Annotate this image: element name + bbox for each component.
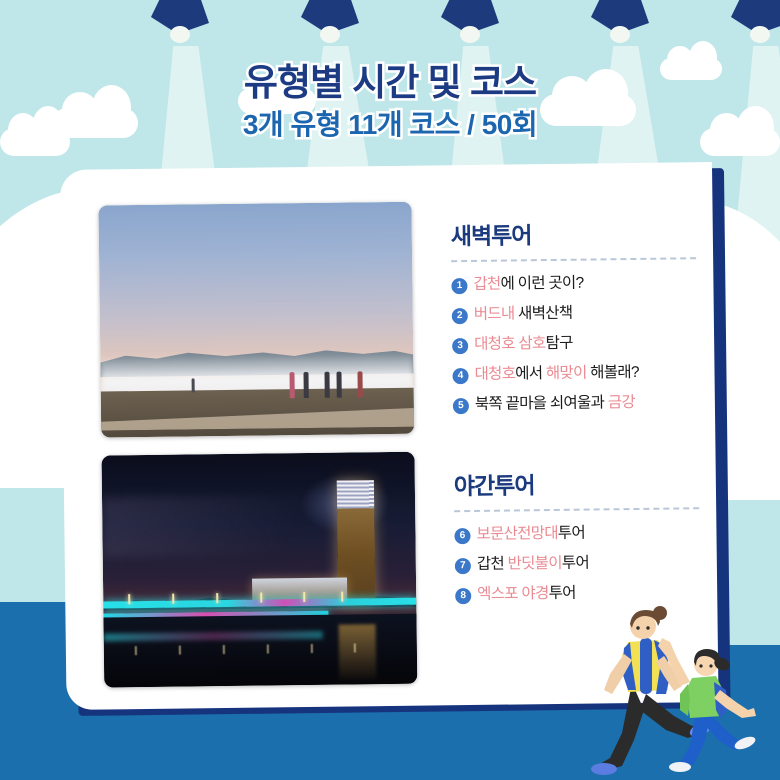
tower-top-lights: [337, 480, 374, 508]
hiker-2: [304, 372, 309, 398]
course-number-badge: 8: [455, 588, 471, 604]
page-title: 유형별 시간 및 코스: [0, 60, 780, 106]
section-dawn-title: 새벽투어: [451, 214, 696, 251]
section-night-course-list: 6보문산전망대투어7갑천 반딧불이투어8엑스포 야경투어: [454, 522, 700, 606]
light-reflection-dot: [223, 645, 225, 654]
page-header: 유형별 시간 및 코스 3개 유형 11개 코스 / 50회: [0, 60, 780, 144]
course-number-badge: 7: [455, 558, 471, 574]
course-item-label: 대청호에서 해맞이 해볼래?: [474, 363, 639, 386]
spotlight-lamp-icon: [591, 0, 649, 42]
course-item-label: 갑천 반딧불이투어: [477, 553, 589, 575]
course-number-badge: 1: [451, 278, 467, 294]
course-item[interactable]: 7갑천 반딧불이투어: [455, 552, 700, 576]
course-item-label: 북쪽 끝마을 쇠여울과 금강: [475, 393, 635, 416]
course-number-badge: 5: [453, 398, 469, 414]
light-reflection-dot: [310, 643, 312, 652]
hiker-5: [357, 371, 362, 397]
section-dawn: 새벽투어 1갑천에 이런 곳이?2버드내 새벽산책3대청호 삼호탐구4대청호에서…: [451, 214, 699, 425]
hiker-3: [324, 372, 329, 398]
hiker-1: [290, 372, 295, 398]
street-lamp-light: [303, 592, 305, 602]
course-number-badge: 2: [452, 308, 468, 324]
street-lamp-light: [128, 594, 130, 604]
section-night-divider: [454, 507, 699, 512]
course-number-badge: 4: [452, 368, 468, 384]
section-dawn-divider: [451, 257, 696, 262]
hiker-distant: [191, 378, 194, 392]
hiker-4: [337, 371, 342, 397]
spotlight-lamp-icon: [731, 0, 780, 42]
section-night: 야간투어 6보문산전망대투어7갑천 반딧불이투어8엑스포 야경투어: [454, 464, 701, 615]
course-item[interactable]: 3대청호 삼호탐구: [452, 332, 697, 356]
course-item-label: 대청호 삼호탐구: [474, 334, 573, 356]
street-lamp-light: [172, 594, 174, 604]
light-reflection-dot: [354, 643, 356, 652]
course-item-label: 버드내 새벽산책: [474, 304, 573, 326]
light-reflection-dot: [267, 644, 269, 653]
section-dawn-course-list: 1갑천에 이런 곳이?2버드내 새벽산책3대청호 삼호탐구4대청호에서 해맞이 …: [451, 272, 698, 416]
section-night-title: 야간투어: [454, 464, 699, 501]
tower-reflection: [339, 624, 377, 680]
light-reflection-dot: [179, 645, 181, 654]
spotlight-lamp-icon: [441, 0, 499, 42]
spotlight-lamp-icon: [301, 0, 359, 42]
running-figures-illustration: [570, 598, 780, 780]
course-item[interactable]: 2버드내 새벽산책: [452, 302, 697, 326]
street-lamp-light: [341, 592, 343, 602]
light-reflection-dot: [135, 646, 137, 655]
course-number-badge: 3: [452, 338, 468, 354]
course-item-label: 갑천에 이런 곳이?: [473, 274, 583, 296]
page-subtitle: 3개 유형 11개 코스 / 50회: [0, 107, 780, 143]
street-lamp-light: [216, 593, 218, 603]
course-item[interactable]: 5북쪽 끝마을 쇠여울과 금강: [453, 392, 698, 416]
course-number-badge: 6: [454, 528, 470, 544]
misty-dawn-hikers-photo: [98, 202, 414, 438]
course-item[interactable]: 6보문산전망대투어: [454, 522, 699, 546]
course-item[interactable]: 4대청호에서 해맞이 해볼래?: [452, 362, 697, 386]
course-item[interactable]: 1갑천에 이런 곳이?: [451, 272, 696, 296]
street-lamp-light: [260, 593, 262, 603]
spotlight-lamp-icon: [151, 0, 209, 42]
night-cityscape-tower-photo: [101, 452, 417, 688]
course-item-label: 보문산전망대투어: [476, 524, 585, 546]
running-child-figure: [658, 638, 757, 772]
course-item-label: 엑스포 야경투어: [477, 584, 576, 606]
